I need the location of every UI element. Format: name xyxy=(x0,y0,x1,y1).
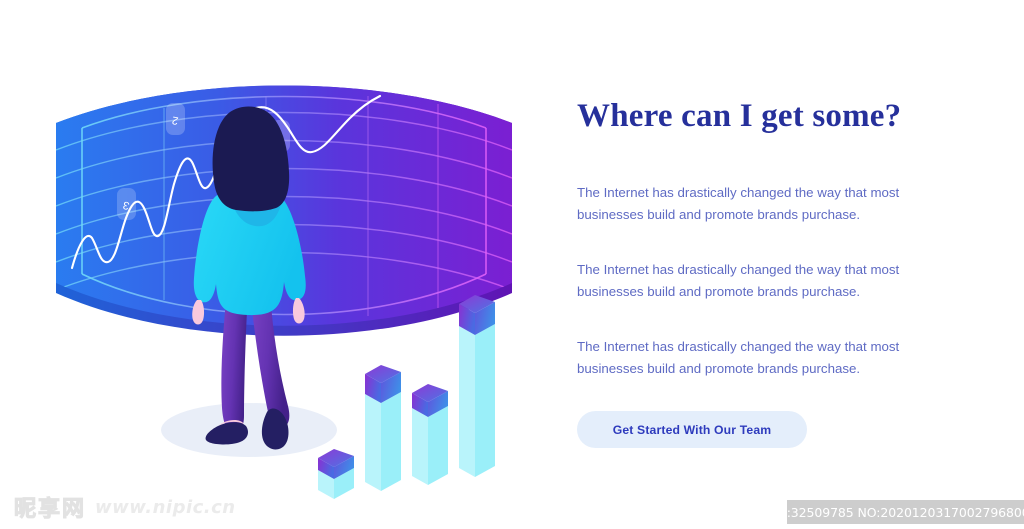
body-paragraph: The Internet has drastically changed the… xyxy=(577,259,953,302)
body-paragraph: The Internet has drastically changed the… xyxy=(577,336,953,379)
paragraph-list: The Internet has drastically changed the… xyxy=(577,182,977,379)
image-id-text: ID:32509785 NO:20201203170027968000 xyxy=(774,505,1024,520)
content-column: Where can I get some? The Internet has d… xyxy=(577,96,977,379)
hero-illustration: 1 2 3 xyxy=(34,78,534,503)
bar-item-1 xyxy=(318,449,354,499)
page-title: Where can I get some? xyxy=(577,96,977,136)
page-root: 1 2 3 xyxy=(0,0,1024,529)
screen-label-2: 2 xyxy=(166,103,185,135)
body-paragraph: The Internet has drastically changed the… xyxy=(577,182,953,225)
bar-item-3 xyxy=(412,384,448,485)
bar-item-2 xyxy=(365,365,401,491)
image-id-bar: ID:32509785 NO:20201203170027968000 xyxy=(787,500,1024,524)
get-started-button[interactable]: Get Started With Our Team xyxy=(577,411,807,448)
bar-item-4 xyxy=(459,295,495,477)
floor-shadow xyxy=(161,403,337,457)
screen-label-3: 3 xyxy=(117,188,136,220)
